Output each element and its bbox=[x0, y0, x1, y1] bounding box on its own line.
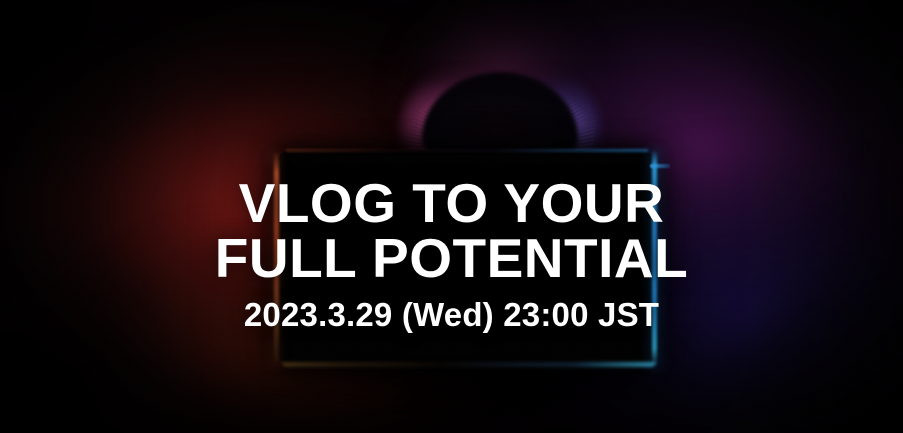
copy-block: VLOG TO YOUR FULL POTENTIAL 2023.3.29 (W… bbox=[0, 0, 903, 433]
vlog-promo-banner: VLOG TO YOUR FULL POTENTIAL 2023.3.29 (W… bbox=[0, 0, 903, 433]
headline-line-2: FULL POTENTIAL bbox=[0, 231, 903, 286]
event-datetime: 2023.3.29 (Wed) 23:00 JST bbox=[0, 298, 903, 331]
headline-line-1: VLOG TO YOUR bbox=[0, 176, 903, 231]
